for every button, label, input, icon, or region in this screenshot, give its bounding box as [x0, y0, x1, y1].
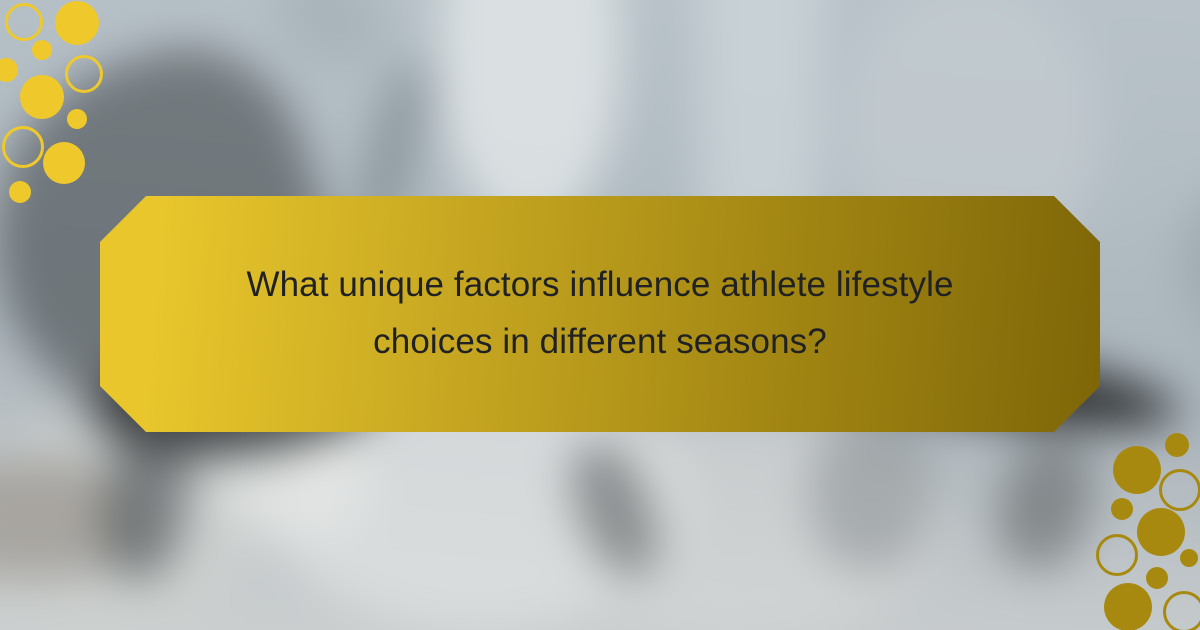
question-text: What unique factors influence athlete li…: [200, 257, 1000, 370]
decor-circle: [1159, 469, 1200, 511]
decor-circle: [1111, 498, 1133, 520]
decor-circle: [1163, 591, 1200, 630]
decor-circle: [1146, 567, 1168, 589]
decor-circle: [1113, 446, 1161, 494]
decor-circle: [1096, 534, 1138, 576]
decor-circle: [1104, 583, 1152, 630]
decor-circle: [1180, 549, 1198, 567]
promo-card: What unique factors influence athlete li…: [0, 0, 1200, 630]
decor-circle: [1137, 508, 1185, 556]
decor-circle: [1165, 433, 1189, 457]
question-banner: What unique factors influence athlete li…: [100, 196, 1100, 432]
